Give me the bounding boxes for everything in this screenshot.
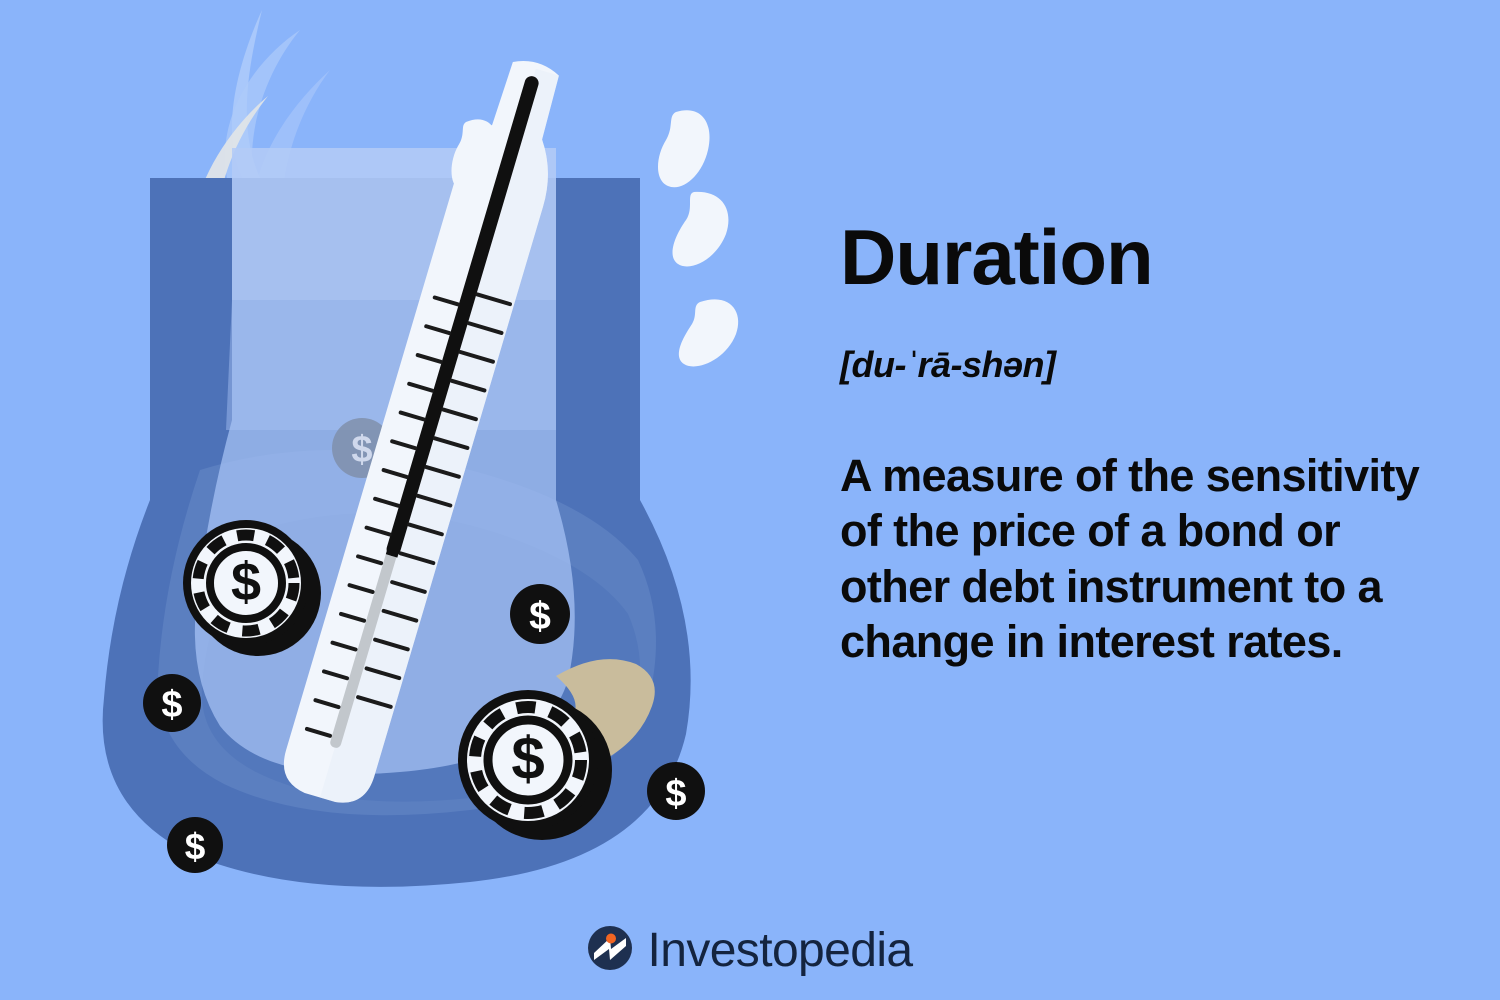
- dollar-coin-icon: $: [647, 762, 705, 820]
- svg-text:$: $: [351, 429, 372, 471]
- svg-text:$: $: [161, 684, 182, 726]
- investopedia-logo-icon: [587, 925, 633, 976]
- svg-text:$: $: [665, 773, 686, 815]
- page-title: Duration: [840, 218, 1460, 296]
- dollar-coin-icon: $: [510, 584, 570, 644]
- dollar-coin-icon: $: [167, 817, 223, 873]
- infographic-canvas: $ $ $ $ $: [0, 0, 1500, 1000]
- dollar-coin-icon: $: [143, 674, 201, 732]
- pronunciation-text: [du-ˈrā-shən]: [840, 344, 1460, 386]
- brand-name: Investopedia: [647, 923, 912, 978]
- svg-text:$: $: [231, 552, 261, 612]
- illustration-area: $ $ $ $ $: [0, 0, 820, 920]
- svg-text:$: $: [511, 725, 544, 792]
- brand-bar: Investopedia: [0, 923, 1500, 978]
- svg-text:$: $: [529, 595, 551, 638]
- definition-panel: Duration [du-ˈrā-shən] A measure of the …: [840, 218, 1460, 714]
- svg-text:$: $: [185, 826, 206, 867]
- definition-text: A measure of the sensitivity of the pric…: [840, 448, 1440, 669]
